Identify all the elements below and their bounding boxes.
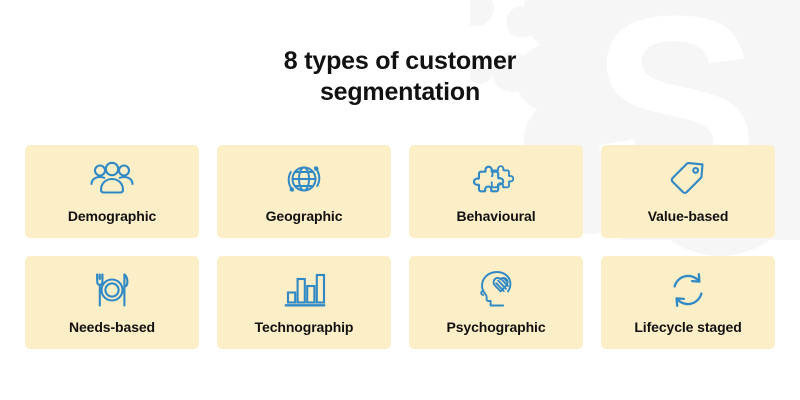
card-label: Psychographic xyxy=(446,319,545,335)
price-tag-icon xyxy=(665,158,711,200)
segmentation-card-grid: Demographic Geographic xyxy=(25,145,775,349)
card-psychographic[interactable]: Psychographic xyxy=(409,256,583,349)
card-geographic[interactable]: Geographic xyxy=(217,145,391,238)
card-value-based[interactable]: Value-based xyxy=(601,145,775,238)
card-label: Needs-based xyxy=(69,319,155,335)
card-behavioural[interactable]: Behavioural xyxy=(409,145,583,238)
head-heart-icon xyxy=(473,269,519,311)
card-technographip[interactable]: Technographip xyxy=(217,256,391,349)
card-label: Lifecycle staged xyxy=(634,319,741,335)
bar-chart-icon xyxy=(281,269,327,311)
globe-orbit-icon xyxy=(281,158,327,200)
card-label: Demographic xyxy=(68,208,156,224)
card-needs-based[interactable]: Needs-based xyxy=(25,256,199,349)
cycle-arrows-icon xyxy=(665,269,711,311)
card-label: Technographip xyxy=(255,319,354,335)
fork-plate-knife-icon xyxy=(89,269,135,311)
people-group-icon xyxy=(89,158,135,200)
title-line-2: segmentation xyxy=(0,77,800,108)
card-label: Behavioural xyxy=(456,208,535,224)
card-lifecycle-staged[interactable]: Lifecycle staged xyxy=(601,256,775,349)
puzzle-pieces-icon xyxy=(473,158,519,200)
card-demographic[interactable]: Demographic xyxy=(25,145,199,238)
card-label: Value-based xyxy=(648,208,729,224)
title-line-1: 8 types of customer xyxy=(0,46,800,77)
card-label: Geographic xyxy=(266,208,343,224)
infographic-canvas: S 8 types of customer segmentation Demog… xyxy=(0,0,800,400)
page-title: 8 types of customer segmentation xyxy=(0,46,800,108)
